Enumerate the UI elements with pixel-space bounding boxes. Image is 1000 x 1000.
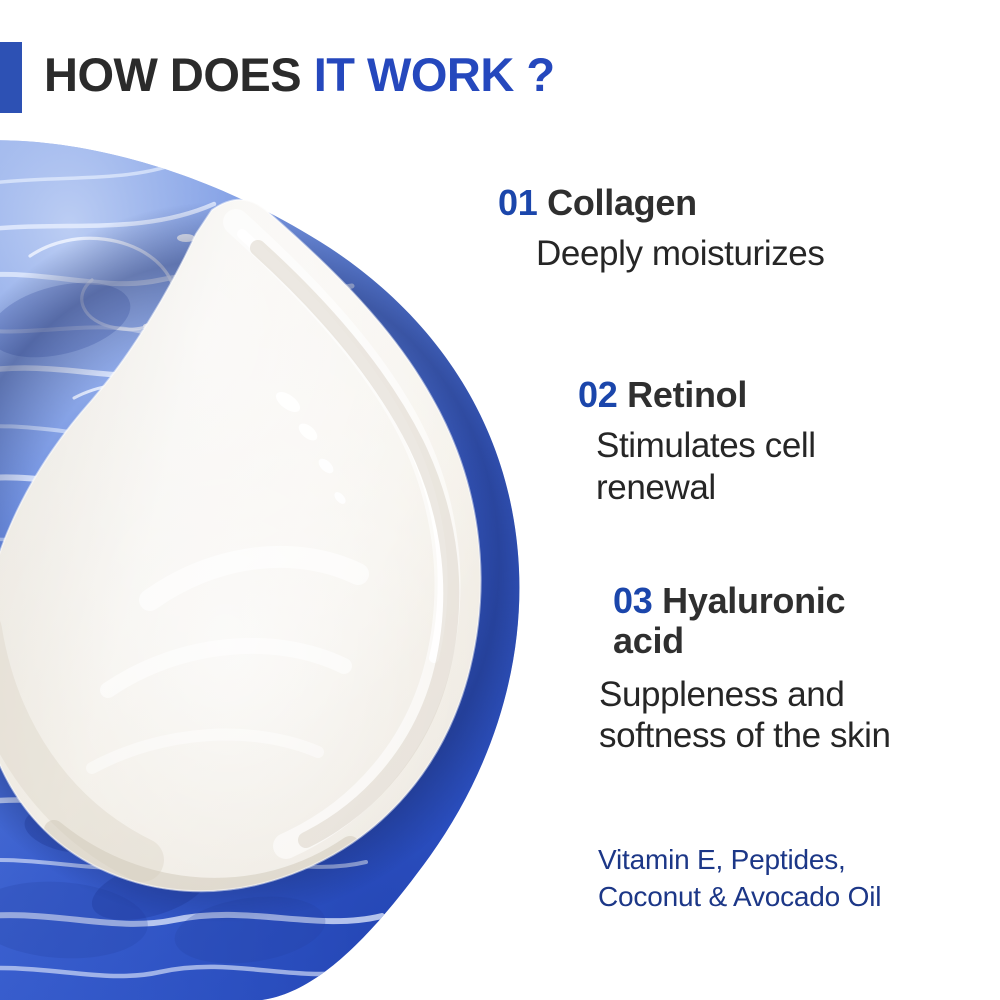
benefit-02-heading: 02 Retinol bbox=[578, 375, 816, 415]
benefit-02-description: Stimulates cell renewal bbox=[596, 425, 816, 508]
benefit-02-number: 02 bbox=[578, 374, 617, 415]
ingredients-list: Vitamin E, Peptides, Coconut & Avocado O… bbox=[598, 841, 881, 915]
page-title-dark-part: HOW DOES bbox=[44, 48, 301, 101]
benefit-02-description-line1: Stimulates cell bbox=[596, 425, 816, 466]
benefit-03-name-line2: acid bbox=[613, 621, 891, 661]
benefit-03-description-line1: Suppleness and bbox=[599, 674, 891, 715]
infographic-page: HOW DOES IT WORK ? bbox=[0, 0, 1000, 1000]
benefit-02-description-line2: renewal bbox=[596, 467, 816, 508]
page-title: HOW DOES IT WORK ? bbox=[44, 39, 555, 111]
benefit-03-name-line1: Hyaluronic bbox=[662, 580, 845, 621]
benefit-03-number: 03 bbox=[613, 580, 652, 621]
benefit-01-name: Collagen bbox=[547, 182, 697, 223]
benefit-03-heading-line1: 03 Hyaluronic bbox=[613, 581, 891, 621]
benefit-item-03: 03 Hyaluronic acid Suppleness and softne… bbox=[613, 581, 891, 756]
benefit-item-02: 02 Retinol Stimulates cell renewal bbox=[578, 375, 816, 508]
benefit-03-description-line2: softness of the skin bbox=[599, 715, 891, 756]
benefit-03-description: Suppleness and softness of the skin bbox=[599, 674, 891, 757]
ingredients-line1: Vitamin E, Peptides, bbox=[598, 841, 881, 878]
header-accent-bar bbox=[0, 42, 22, 113]
benefit-03-heading: 03 Hyaluronic acid bbox=[613, 581, 891, 662]
benefit-01-description: Deeply moisturizes bbox=[536, 233, 824, 274]
benefit-01-number: 01 bbox=[498, 182, 537, 223]
benefit-item-01: 01 Collagen Deeply moisturizes bbox=[498, 183, 824, 275]
benefit-02-name: Retinol bbox=[627, 374, 747, 415]
page-title-blue-part: IT WORK ? bbox=[314, 48, 555, 101]
benefit-01-heading: 01 Collagen bbox=[498, 183, 824, 223]
page-header: HOW DOES IT WORK ? bbox=[0, 42, 1000, 114]
ingredients-line2: Coconut & Avocado Oil bbox=[598, 878, 881, 915]
